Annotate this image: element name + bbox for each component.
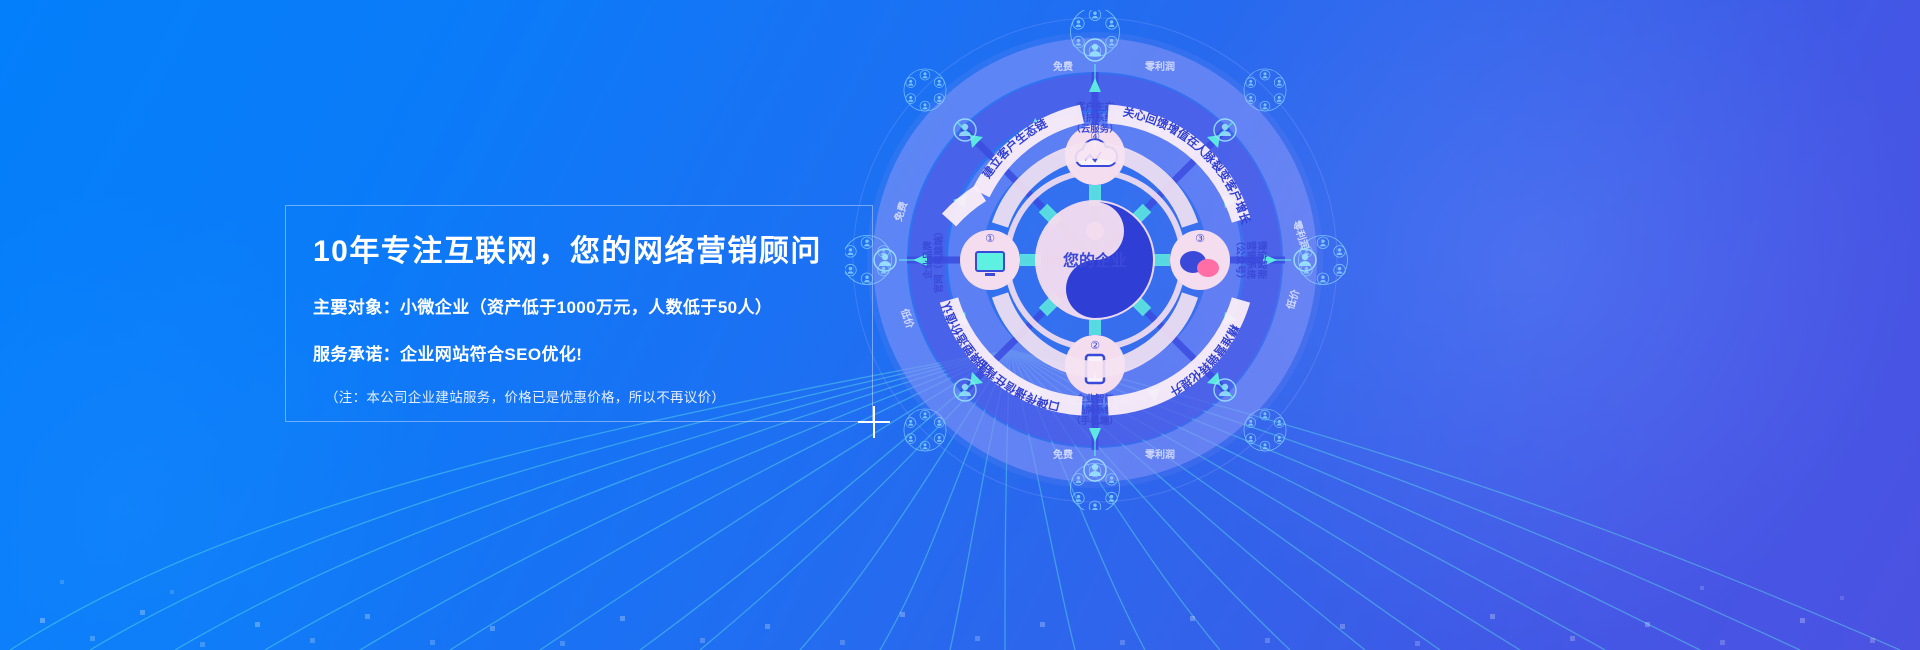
promo-banner: 10年专注互联网，您的网络营销顾问 主要对象：小微企业（资产低于1000万元，人…: [0, 0, 1920, 650]
node-chat-number: ③: [1195, 233, 1205, 245]
node-chat[interactable]: ③: [1170, 230, 1230, 290]
outer-label-7: 零利润: [1144, 448, 1175, 461]
outer-label-1: 零利润: [1144, 60, 1175, 73]
service-promise-line: 服务承诺：企业网站符合SEO优化!: [313, 340, 873, 365]
copy-block: 10年专注互联网，您的网络营销顾问 主要对象：小微企业（资产低于1000万元，人…: [313, 232, 873, 406]
monitor-icon: [976, 252, 1004, 271]
svg-text:微信智能营销系统（公众号）: 微信智能营销系统（公众号）: [1234, 236, 1268, 284]
page-title: 10年专注互联网，您的网络营销顾问: [313, 232, 873, 271]
node-monitor-number: ①: [985, 233, 995, 245]
outer-label-0: 免费: [1053, 60, 1073, 73]
node-mobile-number: ②: [1090, 340, 1100, 352]
outer-label-6: 免费: [1053, 448, 1073, 461]
dot-grid-decoration: [0, 510, 1920, 650]
center-label: 您的企业: [1063, 251, 1127, 270]
ecosystem-diagram: 您的企业 ① ② ③ ④: [845, 10, 1385, 510]
target-audience-line: 主要对象：小微企业（资产低于1000万元，人数低于50人）: [313, 293, 873, 318]
node-monitor[interactable]: ①: [960, 230, 1020, 290]
pricing-note-line: （注：本公司企业建站服务，价格已是优惠价格，所以不再议价）: [313, 386, 873, 406]
